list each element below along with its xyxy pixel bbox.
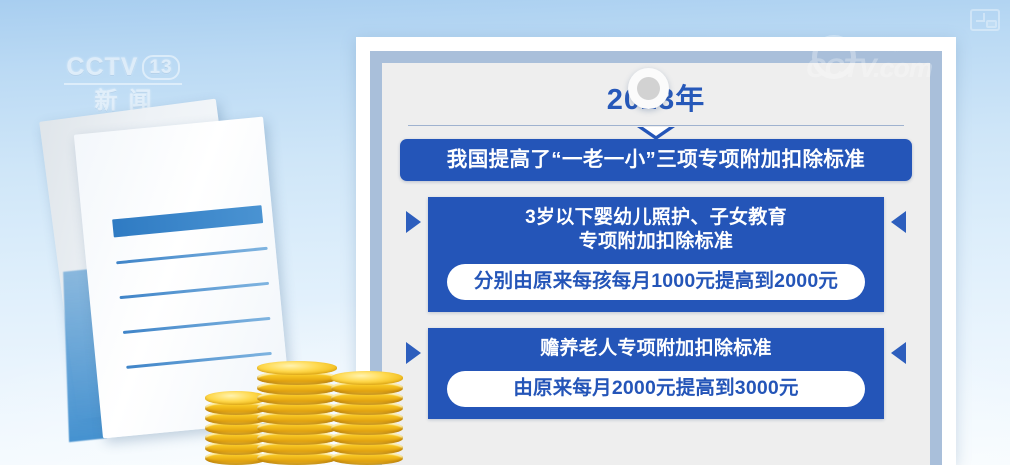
board-frame: 2023年 我国提高了“一老一小”三项专项附加扣除标准 3岁以下婴幼儿照护、子女… xyxy=(370,51,942,465)
board-pin xyxy=(628,68,669,109)
coin-stack-middle xyxy=(257,347,337,465)
document-heading-bar xyxy=(112,205,263,237)
channel-logo-rule xyxy=(64,83,182,85)
coin xyxy=(331,371,403,385)
board-content: 2023年 我国提高了“一老一小”三项专项附加扣除标准 3岁以下婴幼儿照护、子女… xyxy=(382,63,930,465)
section-card: 赡养老人专项附加扣除标准 由原来每月2000元提高到3000元 xyxy=(428,328,884,419)
section-value: 由原来每月2000元提高到3000元 xyxy=(447,371,865,407)
picture-in-picture-icon[interactable] xyxy=(970,9,1000,31)
info-board: 2023年 我国提高了“一老一小”三项专项附加扣除标准 3岁以下婴幼儿照护、子女… xyxy=(356,37,956,465)
section-title: 赡养老人专项附加扣除标准 xyxy=(438,337,874,361)
document-text-line xyxy=(116,247,268,265)
channel-logo-row: CCTV13 xyxy=(58,55,188,80)
headline-text: 我国提高了“一老一小”三项专项附加扣除标准 xyxy=(447,148,865,171)
document-text-line xyxy=(123,317,271,334)
channel-number: 13 xyxy=(142,55,179,80)
pip-inner-frame xyxy=(986,20,997,28)
triangle-left-icon xyxy=(891,342,906,364)
section-elderly-support: 赡养老人专项附加扣除标准 由原来每月2000元提高到3000元 xyxy=(400,328,912,419)
document-text-line xyxy=(119,282,269,299)
section-card: 3岁以下婴幼儿照护、子女教育 专项附加扣除标准 分别由原来每孩每月1000元提高… xyxy=(428,197,884,312)
coin-stack-left xyxy=(205,382,267,465)
broadcast-screen: CCTV13 新闻 2023年 xyxy=(0,0,1010,465)
headline-banner: 我国提高了“一老一小”三项专项附加扣除标准 xyxy=(400,139,912,182)
channel-logo-text: CCTV xyxy=(66,53,138,81)
divider-line xyxy=(408,125,904,126)
section-title: 3岁以下婴幼儿照护、子女教育 专项附加扣除标准 xyxy=(438,206,874,254)
coin xyxy=(257,361,337,375)
triangle-left-icon xyxy=(891,211,906,233)
section-childcare-education: 3岁以下婴幼儿照护、子女教育 专项附加扣除标准 分别由原来每孩每月1000元提高… xyxy=(400,197,912,312)
triangle-right-icon xyxy=(406,342,421,364)
triangle-right-icon xyxy=(406,211,421,233)
headline-notch-icon xyxy=(637,127,675,140)
pip-arrow xyxy=(976,13,985,22)
coin-stack-right xyxy=(331,361,403,465)
section-value: 分别由原来每孩每月1000元提高到2000元 xyxy=(447,264,865,300)
